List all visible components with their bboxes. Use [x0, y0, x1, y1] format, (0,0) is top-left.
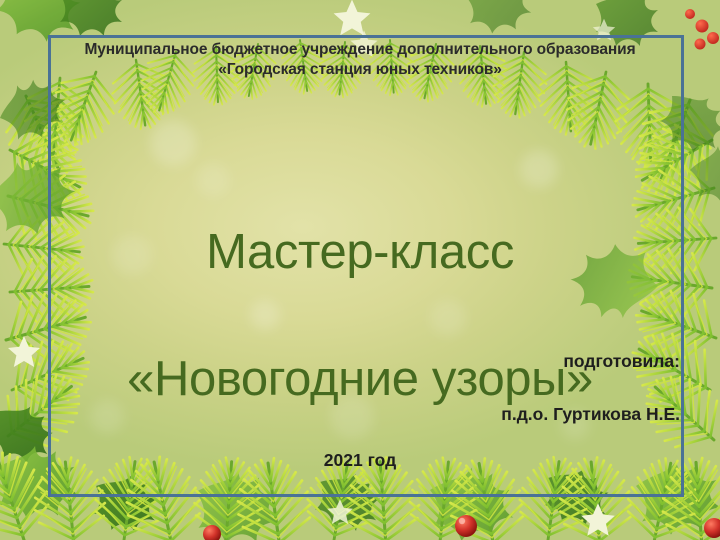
organization-heading: Муниципальное бюджетное учреждение допол… [60, 40, 660, 81]
author-name: п.д.о. Гуртикова Н.Е. [360, 401, 680, 427]
red-bauble-ornament [704, 518, 720, 538]
author-block: подготовила: п.д.о. Гуртикова Н.Е. [360, 322, 680, 453]
red-berry-ornament [685, 9, 719, 50]
presentation-slide: Муниципальное бюджетное учреждение допол… [0, 0, 720, 540]
star-ornament [334, 0, 371, 35]
year-label: 2021 год [245, 450, 475, 471]
author-label: подготовила: [360, 348, 680, 374]
title-line-1: Мастер-класс [40, 221, 680, 285]
red-bauble-ornament [455, 515, 477, 537]
